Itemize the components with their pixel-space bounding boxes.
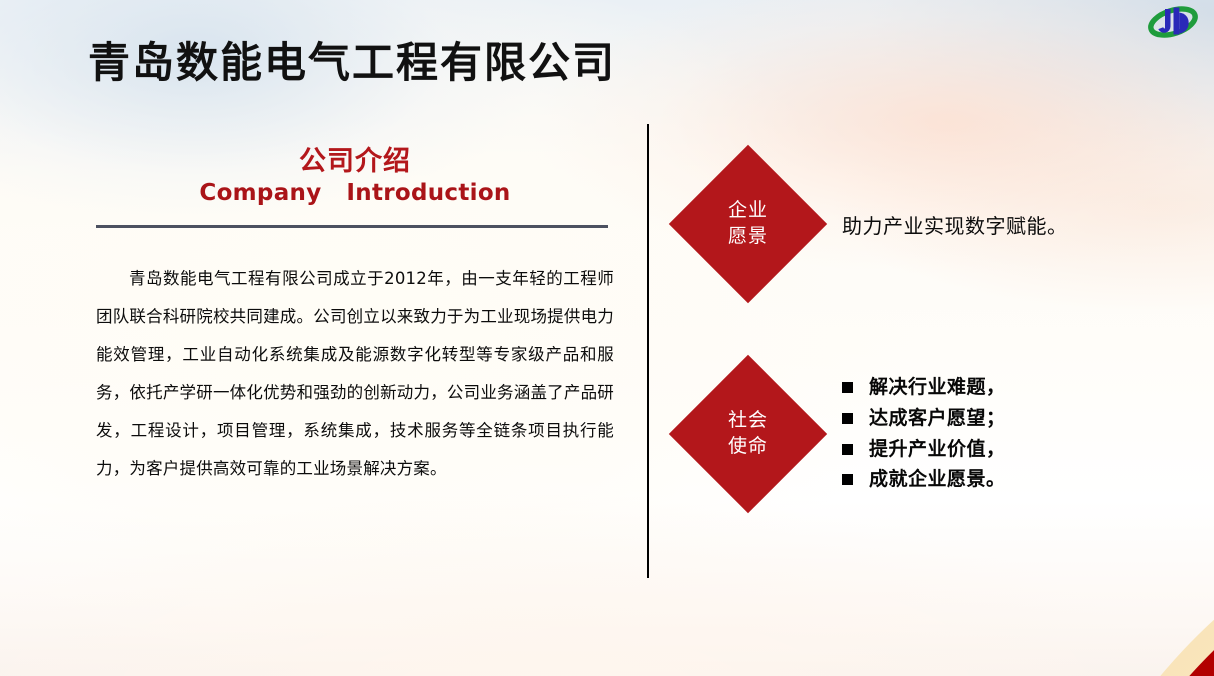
vision-diamond-badge: 企业 愿景 xyxy=(669,145,827,303)
square-bullet-icon xyxy=(842,413,853,424)
slide-canvas: 青岛数能电气工程有限公司 公司介绍 Company Introduction 青… xyxy=(0,0,1214,676)
mission-item-text: 提升产业价值， xyxy=(869,434,1006,465)
section-heading-english: Company Introduction xyxy=(96,180,614,206)
mission-badge-line1: 社会 xyxy=(728,408,768,434)
vision-badge-line2: 愿景 xyxy=(728,224,768,250)
mission-item-text: 解决行业难题， xyxy=(869,372,1006,403)
list-item: 成就企业愿景。 xyxy=(842,464,1006,495)
mission-badge-line2: 使命 xyxy=(728,434,768,460)
vision-block: 企业 愿景 助力产业实现数字赋能。 xyxy=(680,168,1200,280)
list-item: 达成客户愿望； xyxy=(842,403,1006,434)
company-introduction-paragraph: 青岛数能电气工程有限公司成立于2012年，由一支年轻的工程师团队联合科研院校共同… xyxy=(96,260,614,488)
list-item: 解决行业难题， xyxy=(842,372,1006,403)
right-column: 企业 愿景 助力产业实现数字赋能。 社会 使命 解决行业难题， xyxy=(680,130,1200,495)
section-heading-chinese: 公司介绍 xyxy=(96,148,614,176)
bottom-right-gold-arc xyxy=(1032,466,1214,676)
mission-item-text: 成就企业愿景。 xyxy=(869,464,1006,495)
left-column: 公司介绍 Company Introduction 青岛数能电气工程有限公司成立… xyxy=(96,148,614,488)
vision-badge-label: 企业 愿景 xyxy=(692,168,804,280)
column-divider xyxy=(647,124,649,578)
vision-badge-line1: 企业 xyxy=(728,198,768,224)
square-bullet-icon xyxy=(842,444,853,455)
square-bullet-icon xyxy=(842,382,853,393)
top-left-gold-arc xyxy=(0,0,102,118)
mission-list: 解决行业难题， 达成客户愿望； 提升产业价值， 成就企业愿景。 xyxy=(842,372,1006,495)
top-left-red-arc xyxy=(0,0,84,100)
page-title: 青岛数能电气工程有限公司 xyxy=(88,29,616,90)
square-bullet-icon xyxy=(842,474,853,485)
mission-item-text: 达成客户愿望； xyxy=(869,403,1006,434)
mission-block: 社会 使命 解决行业难题， 达成客户愿望； 提升产业价值， xyxy=(680,372,1200,495)
mission-diamond-badge: 社会 使命 xyxy=(669,354,827,512)
vision-text: 助力产业实现数字赋能。 xyxy=(842,210,1068,239)
list-item: 提升产业价值， xyxy=(842,434,1006,465)
company-logo-icon xyxy=(1144,2,1202,42)
bottom-right-red-arc xyxy=(1054,488,1214,676)
heading-underline-rule xyxy=(96,225,608,228)
mission-badge-label: 社会 使命 xyxy=(692,378,804,490)
